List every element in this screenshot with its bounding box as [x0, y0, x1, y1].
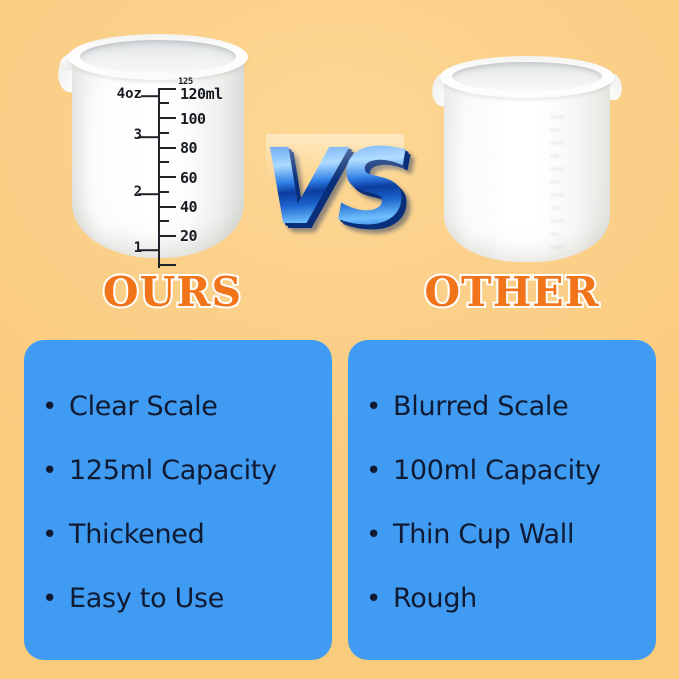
- feature-label: Clear Scale: [69, 391, 218, 422]
- feature-item: • Thin Cup Wall: [366, 519, 642, 550]
- feature-box-ours: • Clear Scale • 125ml Capacity • Thicken…: [24, 340, 332, 660]
- scale-leader-line: [138, 136, 158, 138]
- feature-item: • Blurred Scale: [366, 391, 642, 422]
- scale-label-ml: 60: [180, 169, 197, 187]
- bullet-icon: •: [366, 394, 381, 420]
- feature-item: • Rough: [366, 583, 642, 614]
- feature-label: Thickened: [69, 519, 204, 550]
- blurred-tick: [550, 181, 559, 183]
- feature-label: Thin Cup Wall: [393, 519, 574, 550]
- scale-axis: [158, 88, 160, 268]
- blurred-tick: [550, 155, 559, 157]
- scale-label-oz: 4oz: [117, 86, 142, 102]
- cup-scale-ours: 125 120ml 100 80 60 40 20 4oz 3 2 1: [158, 88, 162, 268]
- scale-tick-minor: [158, 102, 169, 104]
- scale-leader-line: [141, 95, 158, 97]
- scale-label-oz: 2: [134, 184, 142, 200]
- feature-item: • Thickened: [42, 519, 318, 550]
- scale-leader-line: [138, 193, 158, 195]
- feature-label: Rough: [393, 583, 477, 614]
- scale-label-ml: 40: [180, 198, 197, 216]
- cup-blurred-scale-other: [550, 116, 566, 246]
- cup-rim-inner-ours: [80, 40, 236, 73]
- bullet-icon: •: [42, 394, 57, 420]
- bullet-icon: •: [366, 586, 381, 612]
- bullet-icon: •: [42, 458, 57, 484]
- scale-tick-minor: [158, 161, 169, 163]
- heading-other: OTHER: [345, 268, 679, 316]
- scale-tick-major: [158, 206, 176, 208]
- feature-label: Blurred Scale: [393, 391, 568, 422]
- scale-tick-major: [158, 235, 176, 237]
- scale-tick-major: [158, 117, 176, 119]
- scale-label-oz: 3: [134, 127, 142, 143]
- cup-highlight-other: [460, 96, 492, 246]
- scale-label-ml: 120ml: [180, 85, 223, 103]
- scale-tick-minor: [158, 191, 169, 193]
- scale-tick-major: [158, 147, 176, 149]
- blurred-tick: [550, 168, 565, 170]
- feature-item: • Easy to Use: [42, 583, 318, 614]
- blurred-tick: [550, 233, 559, 235]
- feature-item: • 125ml Capacity: [42, 455, 318, 486]
- scale-leader-line: [138, 249, 158, 251]
- feature-label: Easy to Use: [69, 583, 224, 614]
- blurred-tick: [550, 207, 559, 209]
- scale-label-oz: 1: [134, 240, 142, 256]
- scale-tick-major: [158, 176, 176, 178]
- feature-box-other: • Blurred Scale • 100ml Capacity • Thin …: [348, 340, 656, 660]
- blurred-tick: [550, 194, 565, 196]
- measuring-cup-ours: 125 120ml 100 80 60 40 20 4oz 3 2 1: [58, 28, 258, 260]
- bullet-icon: •: [42, 522, 57, 548]
- blurred-tick: [550, 246, 565, 248]
- scale-tick-minor: [158, 220, 169, 222]
- feature-item: • 100ml Capacity: [366, 455, 642, 486]
- scale-tick-minor: [158, 132, 169, 134]
- blurred-tick: [550, 129, 559, 131]
- feature-label: 125ml Capacity: [69, 455, 277, 486]
- scale-label-ml: 80: [180, 139, 197, 157]
- blurred-tick: [550, 116, 565, 118]
- scale-tick-major: [158, 88, 176, 90]
- blurred-tick: [550, 220, 565, 222]
- bullet-icon: •: [42, 586, 57, 612]
- bullet-icon: •: [366, 522, 381, 548]
- heading-ours: OURS: [0, 268, 345, 316]
- comparison-graphic: 125 120ml 100 80 60 40 20 4oz 3 2 1: [0, 0, 679, 679]
- cup-rim-inner-other: [452, 62, 602, 91]
- scale-tick-major: [158, 264, 176, 266]
- measuring-cup-other: [432, 52, 622, 264]
- blurred-tick: [550, 142, 565, 144]
- feature-item: • Clear Scale: [42, 391, 318, 422]
- scale-label-ml: 100: [180, 110, 206, 128]
- scale-label-ml: 20: [180, 227, 197, 245]
- bullet-icon: •: [366, 458, 381, 484]
- vs-label: VS: [262, 128, 408, 246]
- feature-label: 100ml Capacity: [393, 455, 601, 486]
- vs-badge: VS: [262, 128, 408, 254]
